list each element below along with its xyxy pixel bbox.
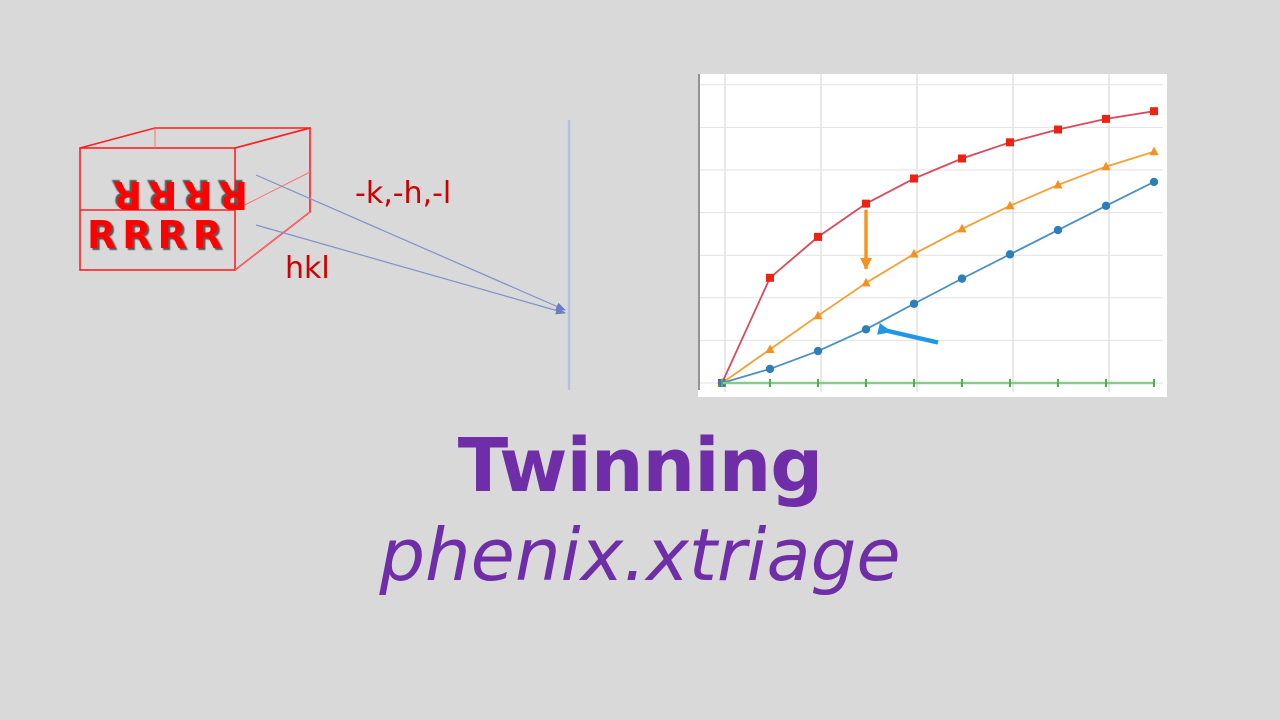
ray-label-hkl: hkl (285, 251, 330, 286)
data-point-circle (958, 274, 966, 282)
data-point-circle (1150, 178, 1158, 186)
cumulative-intensity-plot (693, 70, 1167, 397)
page-subtitle: phenix.xtriage (0, 508, 1280, 602)
page-title: Twinning (0, 424, 1280, 508)
crystal-diagram-svg: RRRR RRRR -k,-h,-l (60, 120, 600, 420)
plot-svg (693, 70, 1167, 397)
upper-layer-letters: RRRR (107, 173, 248, 217)
lower-layer-text: RRRR (87, 213, 228, 257)
data-point-square (862, 200, 870, 208)
data-point-square (910, 175, 918, 183)
data-point-circle (814, 347, 822, 355)
data-point-circle (1054, 226, 1062, 234)
data-point-circle (1102, 202, 1110, 210)
upper-layer-text: RRRR (107, 173, 248, 217)
data-point-square (814, 233, 822, 241)
ray-label-minus-k-h-l: -k,-h,-l (355, 176, 451, 211)
data-point-circle (1006, 250, 1014, 258)
data-point-square (958, 154, 966, 162)
data-point-square (1102, 115, 1110, 123)
data-point-square (1054, 126, 1062, 134)
data-point-circle (862, 325, 870, 333)
title-block: Twinning phenix.xtriage (0, 424, 1280, 602)
data-point-square (1006, 138, 1014, 146)
data-point-square (766, 274, 774, 282)
crystal-diagram: RRRR RRRR -k,-h,-l (60, 120, 600, 420)
data-point-square (1150, 107, 1158, 115)
slide-canvas: RRRR RRRR -k,-h,-l (0, 0, 1280, 720)
data-point-circle (766, 365, 774, 373)
data-point-circle (910, 300, 918, 308)
lower-layer-letters: RRRR (87, 213, 228, 257)
